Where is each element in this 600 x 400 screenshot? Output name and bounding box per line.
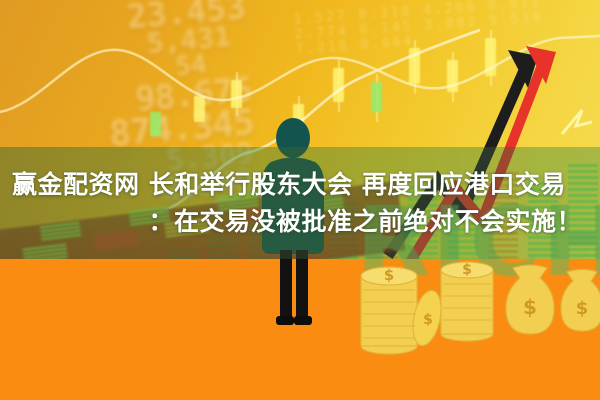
money-bag-icon: $ $ bbox=[506, 265, 600, 334]
finance-news-banner: 23.453 5,431 54 98.675 874.345 5.309 2.3… bbox=[0, 0, 600, 400]
svg-text:$: $ bbox=[423, 312, 433, 328]
svg-text:$: $ bbox=[462, 262, 472, 278]
headline: 赢金配资网 长和举行股东大会 再度回应港口交易 ：在交易没被批准之前绝对不会实施… bbox=[0, 147, 600, 259]
coin-stack-icon: $ $ $ $ $ bbox=[355, 252, 600, 362]
svg-text:$: $ bbox=[576, 298, 589, 319]
svg-text:$: $ bbox=[384, 266, 394, 284]
headline-line-1: 赢金配资网 长和举行股东大会 再度回应港口交易 bbox=[10, 166, 590, 203]
svg-text:$: $ bbox=[523, 295, 537, 319]
headline-line-2: ：在交易没被批准之前绝对不会实施！ bbox=[10, 203, 590, 240]
